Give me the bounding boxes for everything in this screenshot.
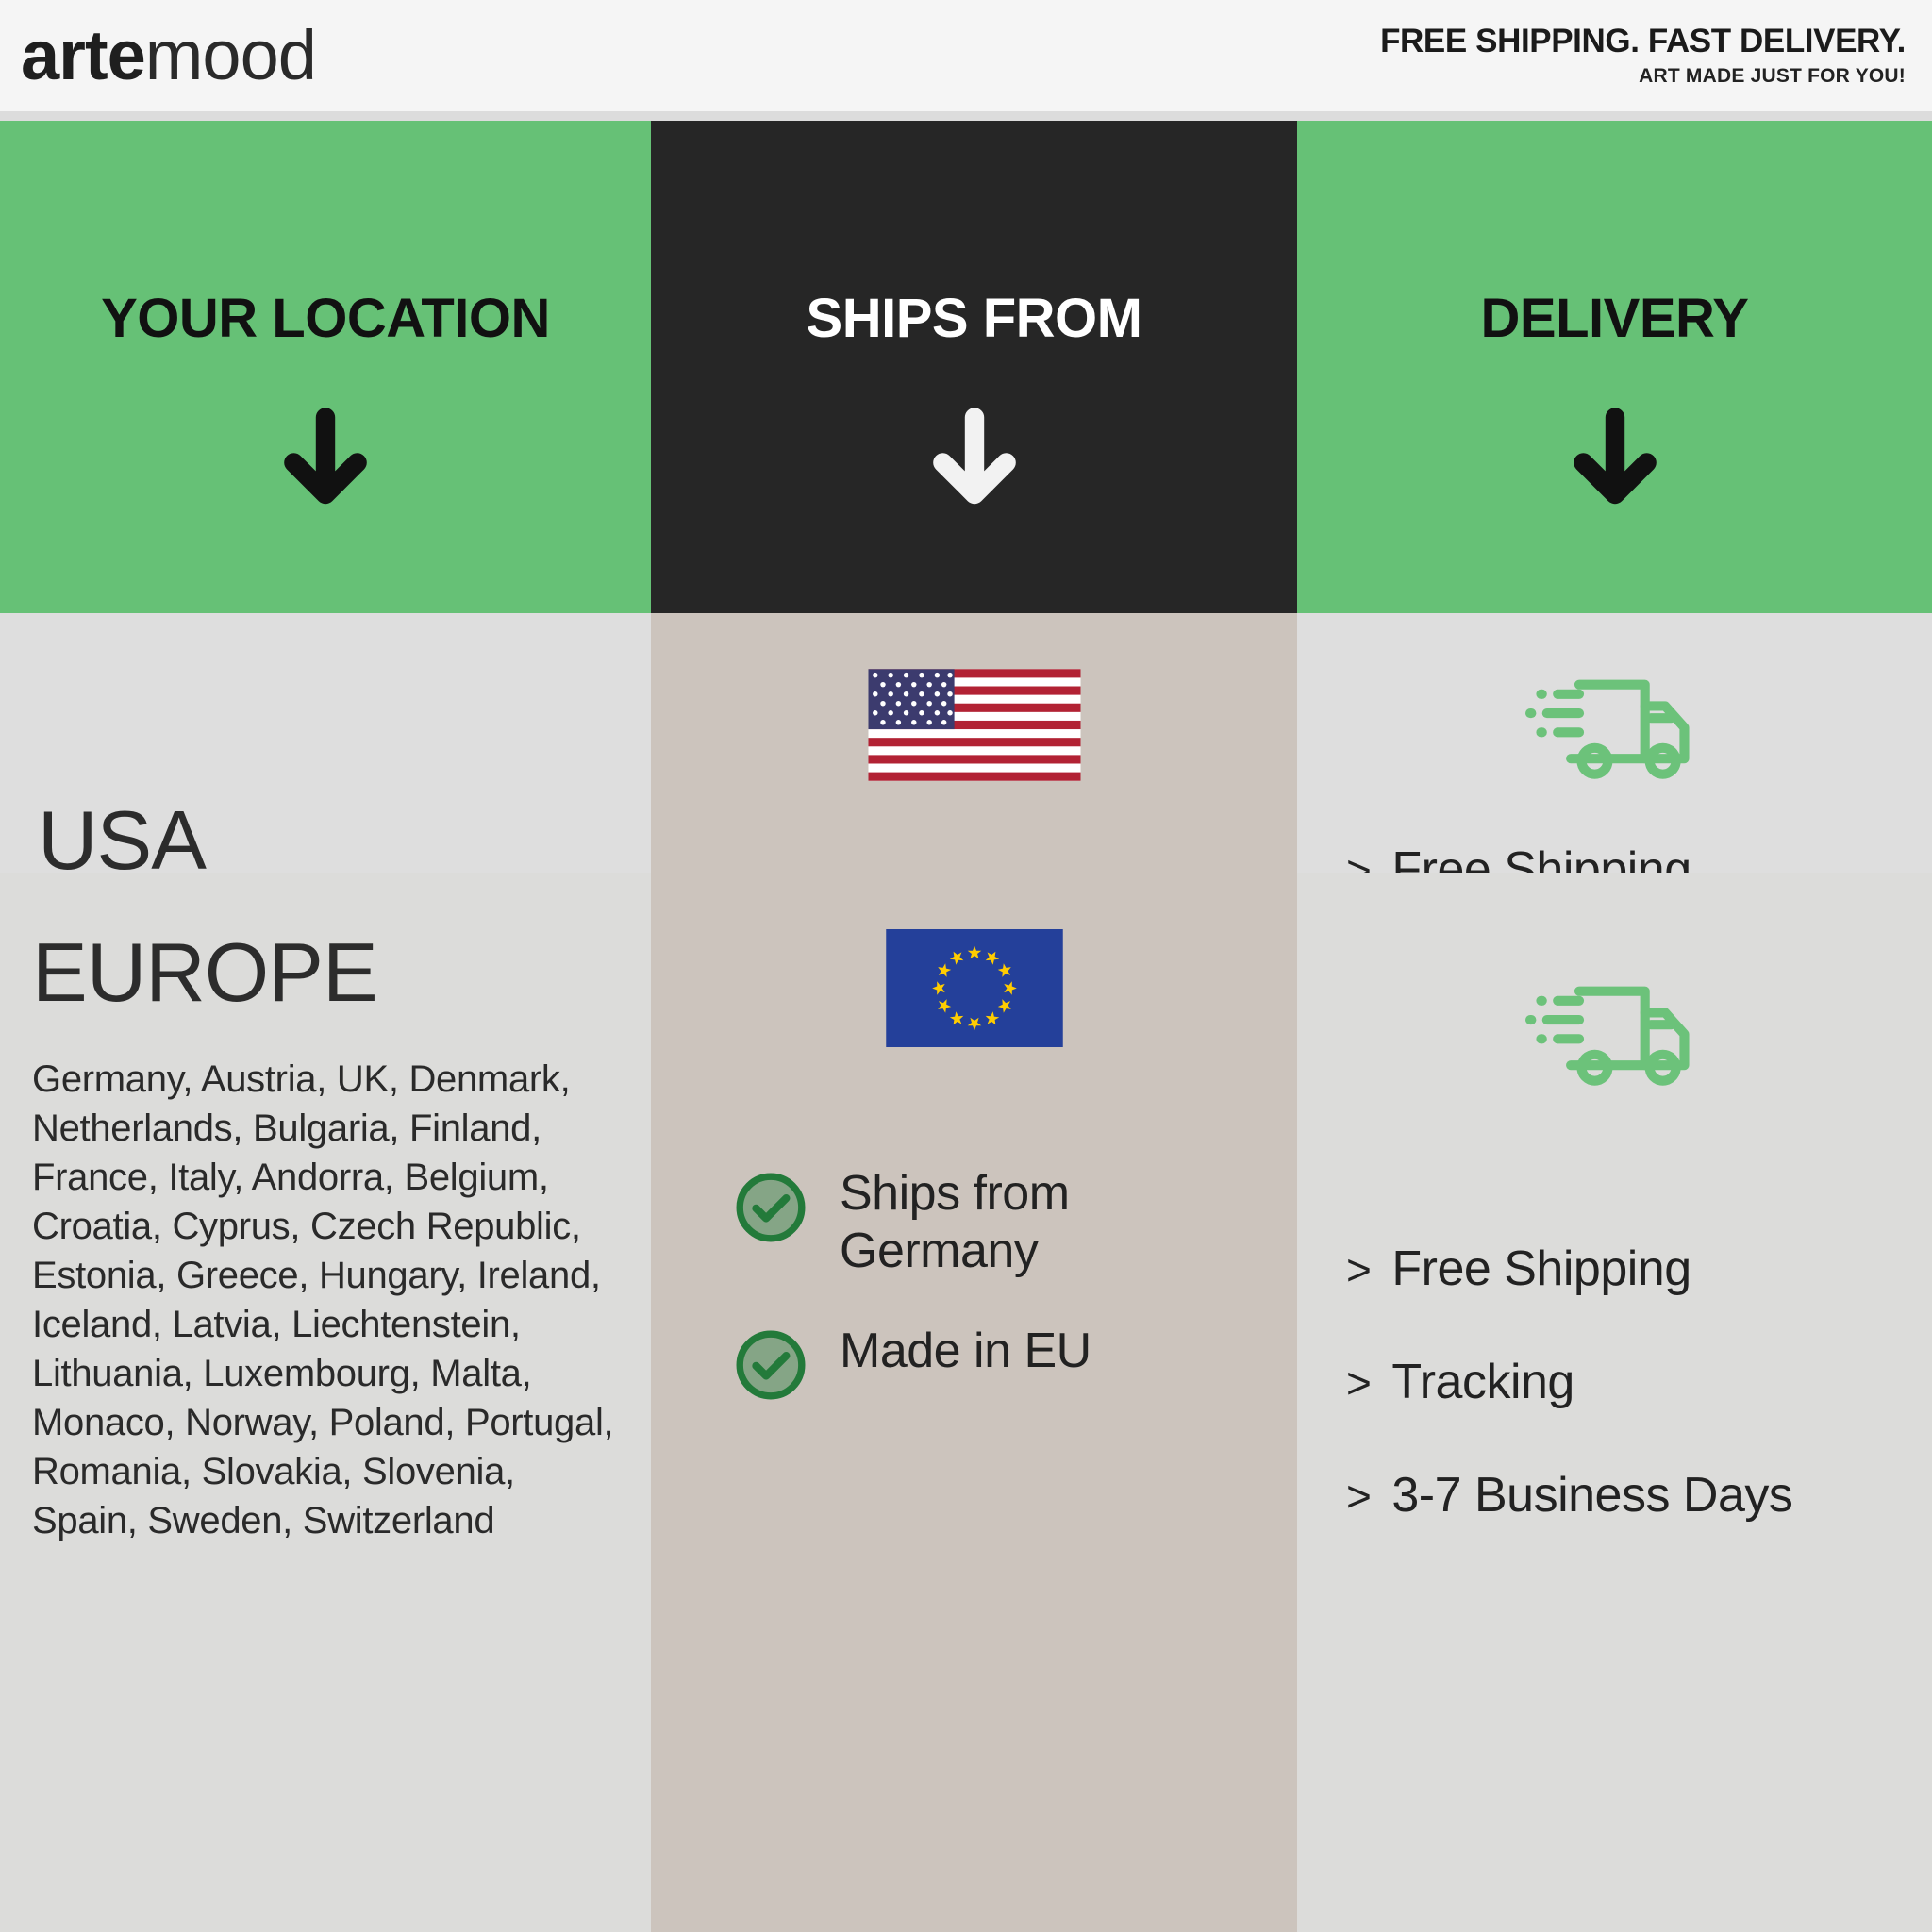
list-item: Ships from Germany [732, 1165, 1091, 1281]
delivery-truck-icon [1525, 660, 1705, 797]
arrow-down-icon [269, 404, 382, 522]
column-header-delivery: DELIVERY [1297, 121, 1932, 613]
list-item-label: Free Shipping [1391, 1241, 1690, 1297]
list-item: Made in EU [732, 1323, 1091, 1408]
chevron-right-icon: > [1346, 1357, 1371, 1408]
check-circle-icon [732, 1169, 809, 1251]
brand-header: artemood FREE SHIPPING. FAST DELIVERY. A… [0, 0, 1932, 111]
column-header-label: YOUR LOCATION [0, 287, 651, 350]
tagline-secondary: ART MADE JUST FOR YOU! [1380, 66, 1906, 87]
location-title-block: EUROPE Germany, Austria, UK, Denmark, Ne… [32, 924, 628, 1545]
row-europe-delivery-cell: > Free Shipping > Tracking > 3-7 Busines… [1297, 873, 1932, 1932]
header-divider [0, 111, 1932, 121]
tagline-primary: FREE SHIPPING. FAST DELIVERY. [1380, 25, 1906, 58]
usa-flag-icon [868, 666, 1080, 789]
list-item-label: Ships from Germany [840, 1165, 1070, 1281]
location-country-list: Germany, Austria, UK, Denmark, Netherlan… [32, 1055, 628, 1545]
header-tagline-group: FREE SHIPPING. FAST DELIVERY. ART MADE J… [1380, 25, 1906, 86]
europe-ships-check-list: Ships from Germany Made in EU [732, 1165, 1091, 1408]
artemood-logo[interactable]: artemood [21, 21, 316, 91]
eu-flag-icon [868, 929, 1080, 1052]
arrow-down-icon [918, 404, 1031, 522]
delivery-truck-icon [1525, 967, 1705, 1104]
column-header-label: SHIPS FROM [651, 287, 1297, 350]
check-circle-icon [732, 1326, 809, 1408]
list-item-label: 3-7 Business Days [1391, 1467, 1792, 1524]
column-header-ships-from: SHIPS FROM [651, 121, 1297, 613]
chevron-right-icon: > [1346, 1471, 1371, 1522]
comparison-grid: YOUR LOCATION SHIPS FROM DELIVERY [0, 121, 1932, 1932]
arrow-down-icon [1558, 404, 1672, 522]
list-item: > Free Shipping [1346, 1241, 1792, 1297]
logo-text-light: mood [145, 16, 316, 94]
chevron-right-icon: > [1346, 1244, 1371, 1295]
column-header-label: DELIVERY [1297, 287, 1932, 350]
shipping-info-infographic: artemood FREE SHIPPING. FAST DELIVERY. A… [0, 0, 1932, 1932]
column-header-your-location: YOUR LOCATION [0, 121, 651, 613]
list-item: > Tracking [1346, 1354, 1792, 1410]
location-title-line-1: EUROPE [32, 924, 628, 1021]
logo-text-bold: arte [21, 16, 145, 94]
europe-delivery-list: > Free Shipping > Tracking > 3-7 Busines… [1346, 1241, 1792, 1524]
list-item-label: Made in EU [840, 1323, 1091, 1380]
row-europe-location-cell: EUROPE Germany, Austria, UK, Denmark, Ne… [0, 873, 651, 1932]
list-item: > 3-7 Business Days [1346, 1467, 1792, 1524]
row-europe-ships-from-cell: Ships from Germany Made in EU [651, 873, 1297, 1932]
list-item-label: Tracking [1391, 1354, 1574, 1410]
